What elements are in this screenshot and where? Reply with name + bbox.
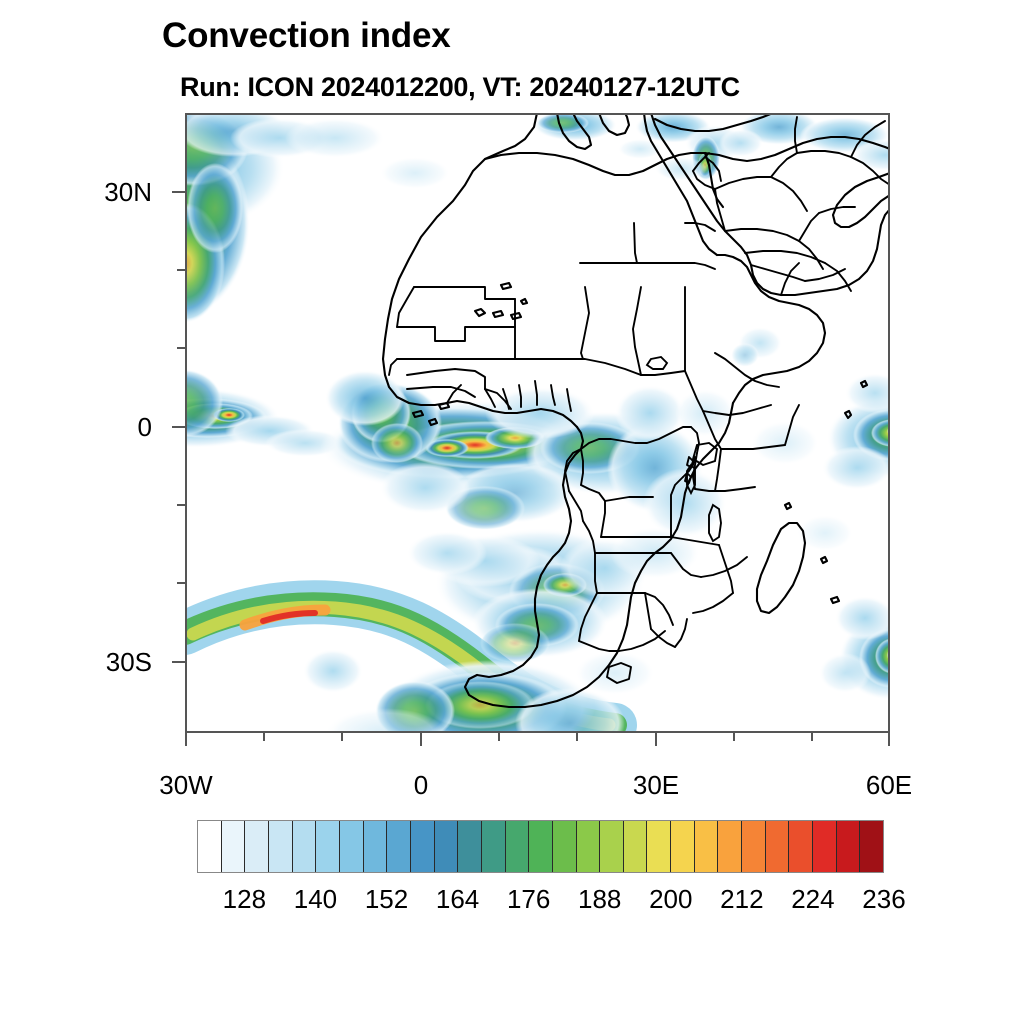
colorbar-tick-label-152: 152 [347,884,427,915]
x-tick-major [420,733,422,746]
colorbar-cell-6 [340,821,364,872]
x-axis-label-0: 30W [126,770,246,801]
y-axis-label-2: 30S [62,647,152,678]
colorbar-cell-0 [198,821,222,872]
x-tick-major [655,733,657,746]
colorbar-tick-label-236: 236 [844,884,924,915]
colorbar-cell-15 [553,821,577,872]
colorbar-cell-10 [435,821,459,872]
colorbar[interactable] [197,820,884,873]
colorbar-cell-1 [222,821,246,872]
colorbar-cell-16 [577,821,601,872]
colorbar-cell-26 [813,821,837,872]
x-axis-label-2: 30E [596,770,716,801]
colorbar-cell-5 [316,821,340,872]
x-axis-label-1: 0 [361,770,481,801]
colorbar-cell-11 [458,821,482,872]
colorbar-tick-label-188: 188 [560,884,640,915]
x-tick-minor [341,733,343,741]
colorbar-cell-21 [695,821,719,872]
colorbar-cell-28 [860,821,883,872]
page-title: Convection index [162,16,451,56]
run-subtitle: Run: ICON 2024012200, VT: 20240127-12UTC [180,72,740,103]
colorbar-tick-label-164: 164 [418,884,498,915]
y-tick-major [172,661,185,663]
x-axis-label-3: 60E [829,770,949,801]
colorbar-labels: 128140152164176188200212224236 [0,884,1024,920]
colorbar-cell-17 [600,821,624,872]
y-tick-minor [177,582,185,584]
y-axis-label-1: 0 [62,412,152,443]
colorbar-cell-8 [387,821,411,872]
x-tick-minor [263,733,265,741]
x-tick-minor [733,733,735,741]
colorbar-cell-7 [364,821,388,872]
colorbar-cell-4 [293,821,317,872]
colorbar-tick-label-128: 128 [204,884,284,915]
colorbar-cell-22 [718,821,742,872]
colorbar-cell-14 [529,821,553,872]
y-axis-label-0: 30N [62,177,152,208]
colorbar-tick-label-224: 224 [773,884,853,915]
colorbar-tick-label-200: 200 [631,884,711,915]
map-plot-area[interactable] [185,113,890,733]
y-tick-major [172,426,185,428]
colorbar-cell-13 [506,821,530,872]
colorbar-cell-18 [624,821,648,872]
x-tick-minor [811,733,813,741]
x-tick-major [888,733,890,746]
colorbar-cell-9 [411,821,435,872]
colorbar-cell-2 [245,821,269,872]
colorbar-cell-12 [482,821,506,872]
colorbar-cell-27 [837,821,861,872]
colorbar-cell-3 [269,821,293,872]
colorbar-cell-24 [766,821,790,872]
colorbar-tick-label-140: 140 [275,884,355,915]
colorbar-tick-label-212: 212 [702,884,782,915]
colorbar-cell-19 [647,821,671,872]
y-tick-minor [177,504,185,506]
colorbar-cell-20 [671,821,695,872]
colorbar-tick-label-176: 176 [489,884,569,915]
colorbar-cell-23 [742,821,766,872]
y-tick-major [172,191,185,193]
colorbar-cell-25 [789,821,813,872]
y-tick-minor [177,269,185,271]
map-svg [185,113,890,733]
figure-root: Convection index Run: ICON 2024012200, V… [0,0,1024,1024]
x-tick-minor [498,733,500,741]
y-tick-minor [177,347,185,349]
x-tick-minor [576,733,578,741]
x-tick-major [185,733,187,746]
